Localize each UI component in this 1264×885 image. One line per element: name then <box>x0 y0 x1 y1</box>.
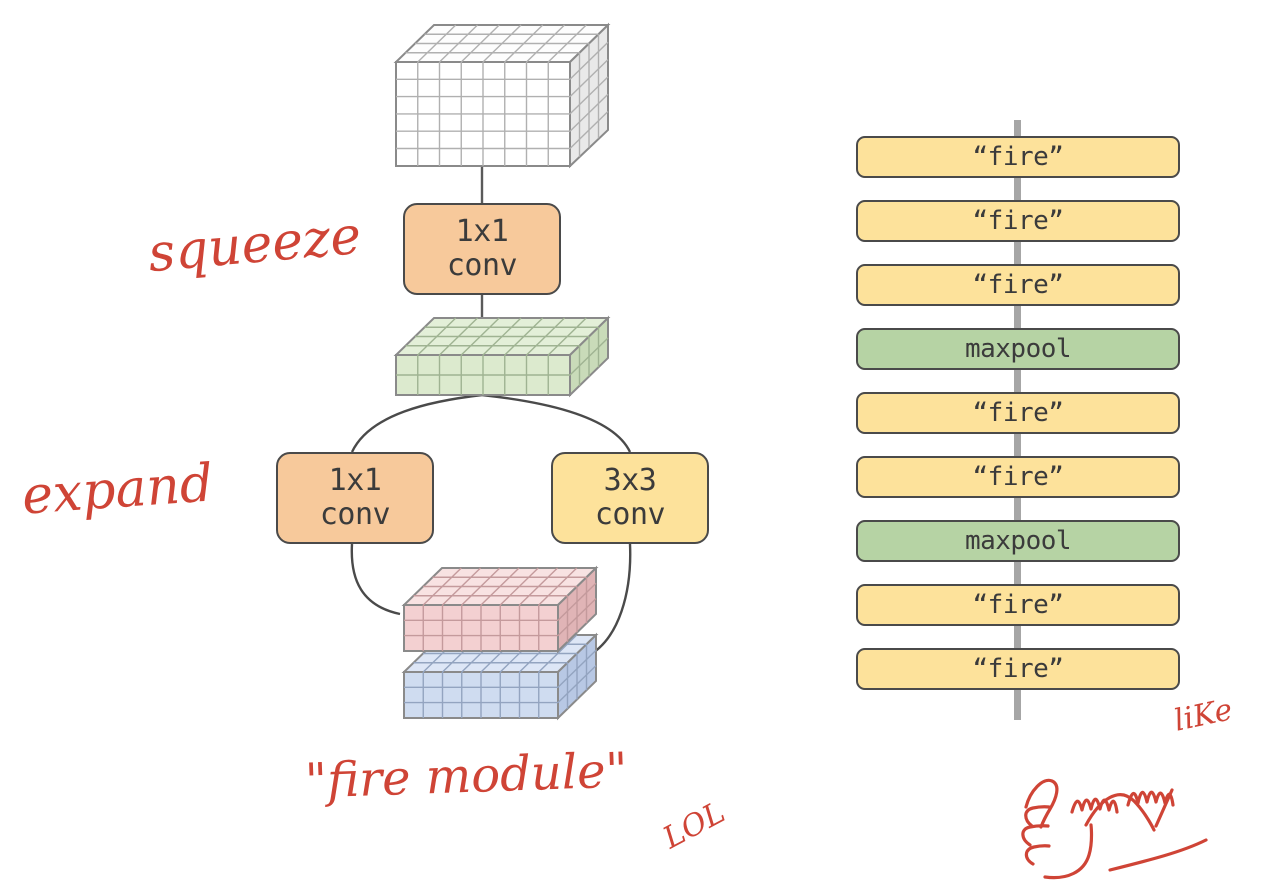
stack-layer-label: “fire” <box>973 654 1064 684</box>
annotation-fire-module: "fire module" <box>304 742 628 809</box>
connector-1x1-to-pink <box>352 544 400 614</box>
stack-layer-fire-5[interactable]: “fire” <box>856 456 1180 498</box>
expand-3x3-kernel-label: 3x3 <box>604 464 657 498</box>
expand-3x3-conv-box[interactable]: 3x3 conv <box>551 452 709 544</box>
squeeze-conv-type-label: conv <box>447 249 517 283</box>
stack-layer-label: “fire” <box>973 206 1064 236</box>
expand-1x1-type-label: conv <box>320 498 390 532</box>
stack-layer-fire-0[interactable]: “fire” <box>856 136 1180 178</box>
stack-layer-label: “fire” <box>973 398 1064 428</box>
expand-1x1-tensor <box>404 568 596 651</box>
squeeze-conv-kernel-label: 1x1 <box>456 215 509 249</box>
thumbs-up-sneaker-doodle <box>1023 780 1206 877</box>
squeeze-tensor <box>396 318 608 395</box>
stack-layer-fire-4[interactable]: “fire” <box>856 392 1180 434</box>
stack-layer-fire-1[interactable]: “fire” <box>856 200 1180 242</box>
stack-layer-maxpool-6[interactable]: maxpool <box>856 520 1180 562</box>
stack-layer-label: maxpool <box>965 526 1071 556</box>
stack-layer-fire-8[interactable]: “fire” <box>856 648 1180 690</box>
stack-layer-fire-2[interactable]: “fire” <box>856 264 1180 306</box>
expand-1x1-kernel-label: 1x1 <box>329 464 382 498</box>
stack-layer-label: “fire” <box>973 142 1064 172</box>
stack-layer-maxpool-3[interactable]: maxpool <box>856 328 1180 370</box>
stack-layer-fire-7[interactable]: “fire” <box>856 584 1180 626</box>
stack-layer-label: “fire” <box>973 462 1064 492</box>
expand-1x1-conv-box[interactable]: 1x1 conv <box>276 452 434 544</box>
input-tensor <box>396 25 608 166</box>
figure-canvas <box>0 0 1264 885</box>
stack-layer-label: maxpool <box>965 334 1071 364</box>
stack-layer-label: “fire” <box>973 270 1064 300</box>
squeeze-1x1-conv-box[interactable]: 1x1 conv <box>403 203 561 295</box>
stack-layer-label: “fire” <box>973 590 1064 620</box>
connector-split-to-1x1 <box>352 395 482 452</box>
expand-3x3-type-label: conv <box>595 498 665 532</box>
connector-split-to-3x3 <box>482 395 630 452</box>
